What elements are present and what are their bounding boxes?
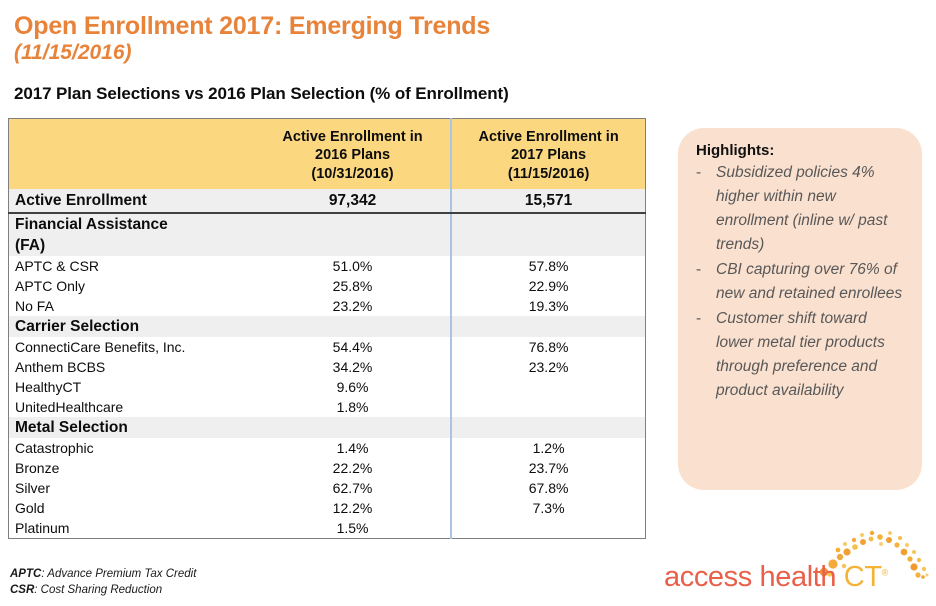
cell-value-2017 [451,417,645,438]
table-header-row: Active Enrollment in 2016 Plans (10/31/2… [9,119,646,189]
cell-value-2017: 1.2% [451,438,645,458]
logo-registered-mark: ® [882,567,888,577]
header-2016-line2: 2016 Plans [261,146,444,165]
highlight-text: Subsidized policies 4% higher within new… [716,161,908,257]
table-row: No FA23.2%19.3% [9,296,646,316]
highlight-item: -Customer shift toward lower metal tier … [696,307,908,403]
cell-label: UnitedHealthcare [9,397,255,417]
highlight-item: -CBI capturing over 76% of new and retai… [696,258,908,306]
table-body: Active Enrollment97,34215,571Financial A… [9,189,646,539]
cell-value-2016 [255,213,451,235]
cell-label: HealthyCT [9,377,255,397]
table-row: Bronze22.2%23.7% [9,458,646,478]
cell-value-2016: 34.2% [255,357,451,377]
cell-label: APTC Only [9,276,255,296]
logo-text-ct: CT [844,561,882,593]
header-2016-line1: Active Enrollment in [261,128,444,147]
cell-value-2017: 22.9% [451,276,645,296]
cell-value-2016 [255,235,451,256]
header-2016-line3: (10/31/2016) [261,165,444,184]
cell-value-2016 [255,316,451,337]
cell-value-2016: 9.6% [255,377,451,397]
cell-value-2016: 51.0% [255,256,451,276]
cell-value-2017: 57.8% [451,256,645,276]
cell-label: APTC & CSR [9,256,255,276]
table-row: Carrier Selection [9,316,646,337]
cell-value-2017 [451,518,645,539]
cell-value-2016: 22.2% [255,458,451,478]
footnote-abbr: APTC [10,568,41,580]
cell-label: Bronze [9,458,255,478]
table-row: Silver62.7%67.8% [9,478,646,498]
enrollment-table: Active Enrollment in 2016 Plans (10/31/2… [8,118,646,539]
cell-value-2016: 1.4% [255,438,451,458]
cell-value-2016: 12.2% [255,498,451,518]
header-2017-line2: 2017 Plans [458,146,639,165]
highlights-list: -Subsidized policies 4% higher within ne… [696,161,908,403]
cell-value-2016: 54.4% [255,337,451,357]
column-header-label [9,119,255,189]
highlight-bullet-dash: - [696,307,716,403]
cell-value-2016: 97,342 [255,189,451,213]
cell-value-2017 [451,235,645,256]
cell-value-2017 [451,213,645,235]
table-header: Active Enrollment in 2016 Plans (10/31/2… [9,119,646,189]
footnotes: APTC: Advance Premium Tax CreditCSR: Cos… [10,566,196,599]
cell-label: Metal Selection [9,417,255,438]
cell-label: Silver [9,478,255,498]
cell-value-2017: 23.2% [451,357,645,377]
column-header-2016: Active Enrollment in 2016 Plans (10/31/2… [255,119,451,189]
logo-wordmark: access health CT® [664,561,888,594]
cell-label: Catastrophic [9,438,255,458]
cell-label: Financial Assistance [9,213,255,235]
column-header-2017: Active Enrollment in 2017 Plans (11/15/2… [451,119,645,189]
table-row: UnitedHealthcare1.8% [9,397,646,417]
page-subtitle: (11/15/2016) [14,41,654,65]
highlight-text: Customer shift toward lower metal tier p… [716,307,908,403]
table-row: APTC Only25.8%22.9% [9,276,646,296]
cell-label: ConnectiCare Benefits, Inc. [9,337,255,357]
table-row: Platinum1.5% [9,518,646,539]
cell-value-2016: 1.5% [255,518,451,539]
cell-label: (FA) [9,235,255,256]
header-2017-line1: Active Enrollment in [458,128,639,147]
highlight-item: -Subsidized policies 4% higher within ne… [696,161,908,257]
cell-label: Active Enrollment [9,189,255,213]
cell-label: Anthem BCBS [9,357,255,377]
highlight-text: CBI capturing over 76% of new and retain… [716,258,908,306]
footnote-text: Advance Premium Tax Credit [47,568,196,580]
table-row: ConnectiCare Benefits, Inc.54.4%76.8% [9,337,646,357]
footnote: CSR: Cost Sharing Reduction [10,582,196,598]
cell-label: Platinum [9,518,255,539]
table-row: Anthem BCBS34.2%23.2% [9,357,646,377]
cell-label: Carrier Selection [9,316,255,337]
cell-value-2017 [451,397,645,417]
header-2017-line3: (11/15/2016) [458,165,639,184]
cell-value-2016: 1.8% [255,397,451,417]
cell-value-2017: 23.7% [451,458,645,478]
footnote-text: Cost Sharing Reduction [41,584,162,596]
cell-label: No FA [9,296,255,316]
access-health-ct-logo: access health CT® [664,528,932,600]
table-caption: 2017 Plan Selections vs 2016 Plan Select… [14,84,509,104]
highlight-bullet-dash: - [696,161,716,257]
table-row: Active Enrollment97,34215,571 [9,189,646,213]
highlights-title: Highlights: [696,142,908,159]
cell-value-2016: 62.7% [255,478,451,498]
cell-value-2016: 23.2% [255,296,451,316]
table-row: (FA) [9,235,646,256]
table-row: Metal Selection [9,417,646,438]
footnote: APTC: Advance Premium Tax Credit [10,566,196,582]
table-row: Catastrophic1.4%1.2% [9,438,646,458]
title-block: Open Enrollment 2017: Emerging Trends (1… [14,12,654,65]
cell-value-2017: 19.3% [451,296,645,316]
table-row: HealthyCT9.6% [9,377,646,397]
cell-label: Gold [9,498,255,518]
cell-value-2017: 67.8% [451,478,645,498]
cell-value-2016: 25.8% [255,276,451,296]
table-row: APTC & CSR51.0%57.8% [9,256,646,276]
highlights-panel: Highlights: -Subsidized policies 4% high… [678,128,922,490]
cell-value-2017 [451,316,645,337]
table-row: Financial Assistance [9,213,646,235]
cell-value-2017: 7.3% [451,498,645,518]
logo-text-access-health: access health [664,561,844,593]
cell-value-2017: 76.8% [451,337,645,357]
cell-value-2017: 15,571 [451,189,645,213]
page-title: Open Enrollment 2017: Emerging Trends [14,12,654,40]
cell-value-2016 [255,417,451,438]
footnote-abbr: CSR [10,584,34,596]
table-row: Gold12.2%7.3% [9,498,646,518]
highlight-bullet-dash: - [696,258,716,306]
cell-value-2017 [451,377,645,397]
